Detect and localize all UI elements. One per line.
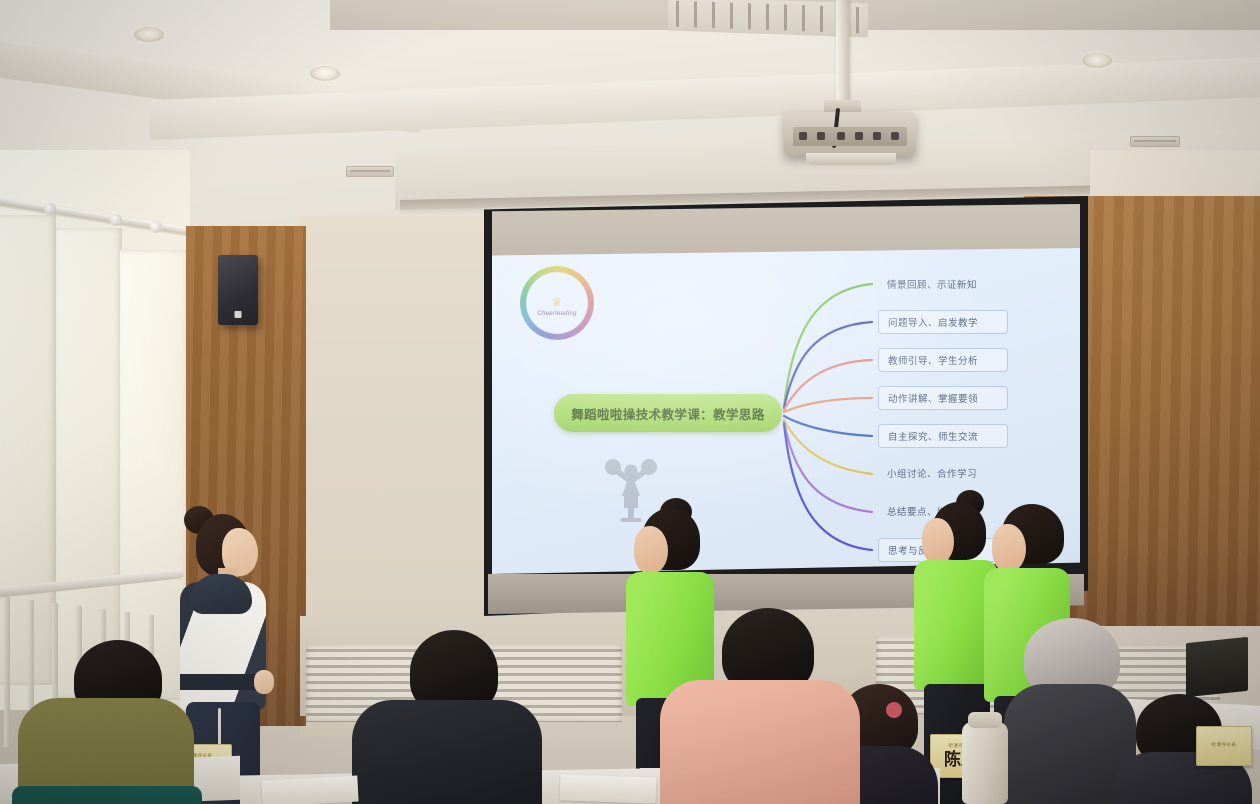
- mindmap-center-node: 舞蹈啦啦操技术教学课：教学思路: [554, 394, 782, 432]
- classroom-photo-scene: ♕ Cheerleading: [0, 0, 1260, 804]
- flask-cap: [968, 712, 1002, 728]
- projection-screen-top-band: [492, 204, 1080, 256]
- wall-speaker: [218, 255, 258, 325]
- ceiling-slot-vent: [346, 166, 394, 177]
- face: [634, 526, 668, 574]
- ceiling-slot-vent: [1130, 136, 1180, 147]
- speaker-led: [235, 311, 242, 318]
- face: [922, 518, 954, 564]
- ceiling-projector: [784, 112, 916, 156]
- laptop: [1186, 637, 1248, 698]
- mindmap-label-5: 自主探究、师生交流: [878, 424, 1008, 448]
- audience-member-pink-shirt: [660, 608, 860, 804]
- ceiling-downlight: [310, 66, 340, 81]
- hair-tie: [886, 702, 902, 718]
- curtain-rail-knob: [110, 214, 122, 226]
- hand: [254, 670, 274, 694]
- mindmap-label-3: 教师引导、学生分析: [878, 348, 1008, 372]
- chair-back: [12, 786, 202, 804]
- curtain-rail-knob: [150, 221, 162, 233]
- mindmap-label-1: 情景回顾、示证新知: [878, 273, 986, 295]
- hoodie-hood: [190, 574, 252, 614]
- torso: [660, 680, 860, 804]
- curtain-rail-knob: [44, 203, 56, 215]
- name-card: 听课评价表: [1196, 726, 1252, 766]
- torso: [352, 700, 542, 804]
- projector-mount-pole: [836, 0, 849, 108]
- paper-sheet: [261, 776, 358, 804]
- mindmap-label-6: 小组讨论、合作学习: [878, 462, 986, 484]
- vacuum-flask: [962, 722, 1008, 804]
- mindmap-label-2: 问题导入、启发教学: [878, 310, 1008, 334]
- paper-sheet: [560, 774, 657, 803]
- mindmap-center-label: 舞蹈啦啦操技术教学课：教学思路: [571, 404, 765, 423]
- audience-member-dark-jacket: [352, 630, 542, 804]
- name-card-org: 听课评价表: [1212, 743, 1237, 748]
- railing-bar: [4, 597, 10, 747]
- mindmap-label-4: 动作讲解、掌握要领: [878, 386, 1008, 410]
- projector-port-panel: [793, 127, 907, 146]
- face: [992, 524, 1026, 572]
- ceiling-downlight: [1082, 53, 1112, 68]
- projector-lens-housing: [806, 153, 896, 165]
- audience-member-olive-jacket: [18, 640, 194, 804]
- ceiling-downlight: [134, 27, 164, 42]
